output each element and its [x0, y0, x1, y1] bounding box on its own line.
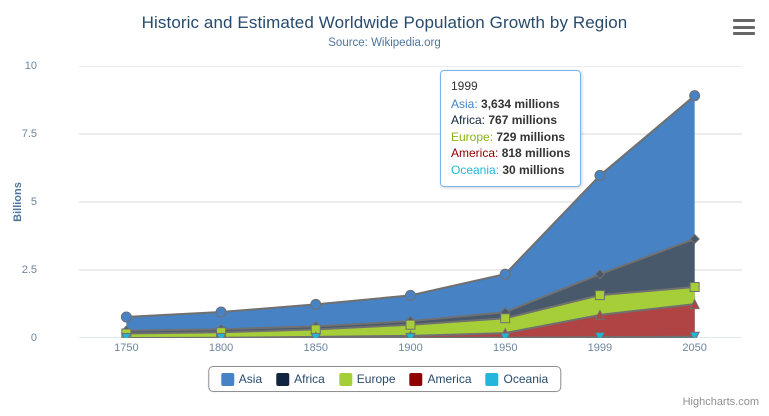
y-axis-tick-label: 7.5 — [22, 128, 37, 140]
data-point-asia-2050[interactable] — [690, 91, 700, 101]
tooltip-row: Oceania: 30 millions — [451, 162, 570, 179]
tooltip-row: Europe: 729 millions — [451, 129, 570, 146]
tooltip-row: America: 818 millions — [451, 145, 570, 162]
legend-swatch-icon — [486, 373, 499, 386]
legend-label: Asia — [239, 372, 262, 386]
data-point-asia-1900[interactable] — [406, 290, 416, 300]
tooltip-series-value: 729 millions — [496, 130, 565, 144]
chart-tooltip: 1999 Asia: 3,634 millionsAfrica: 767 mil… — [440, 70, 581, 187]
legend-item-america[interactable]: America — [410, 372, 472, 386]
data-point-europe-2050[interactable] — [690, 283, 699, 292]
x-axis-tick-label: 1850 — [304, 342, 328, 354]
tooltip-series-value: 767 millions — [488, 113, 557, 127]
tooltip-row: Africa: 767 millions — [451, 112, 570, 129]
chart-title: Historic and Estimated Worldwide Populat… — [0, 13, 769, 33]
menu-bar-3 — [733, 32, 755, 35]
legend-label: Africa — [294, 372, 325, 386]
chart-subtitle: Source: Wikipedia.org — [0, 37, 769, 49]
menu-bar-1 — [733, 19, 755, 22]
credits-label[interactable]: Highcharts.com — [683, 396, 759, 408]
data-point-europe-1999[interactable] — [595, 291, 604, 300]
legend-swatch-icon — [221, 373, 234, 386]
legend-item-oceania[interactable]: Oceania — [486, 372, 549, 386]
plot-area — [79, 66, 742, 338]
legend-label: Europe — [357, 372, 396, 386]
data-point-asia-1750[interactable] — [121, 312, 131, 322]
legend-swatch-icon — [339, 373, 352, 386]
x-axis-tick-label: 1950 — [493, 342, 517, 354]
tooltip-rows: Asia: 3,634 millionsAfrica: 767 millions… — [451, 96, 570, 179]
data-point-europe-1900[interactable] — [406, 320, 415, 329]
x-axis-tick-label: 1999 — [588, 342, 612, 354]
y-axis-tick-label: 5 — [31, 196, 37, 208]
tooltip-series-name: Africa: — [451, 113, 488, 127]
y-axis-title: Billions — [12, 182, 24, 222]
legend-item-africa[interactable]: Africa — [276, 372, 325, 386]
data-point-asia-1950[interactable] — [500, 269, 510, 279]
legend-swatch-icon — [410, 373, 423, 386]
legend-label: America — [428, 372, 472, 386]
tooltip-series-value: 818 millions — [502, 146, 571, 160]
x-axis-tick-label: 1900 — [398, 342, 422, 354]
hamburger-menu-icon[interactable] — [733, 17, 757, 37]
highcharts-chart: Historic and Estimated Worldwide Populat… — [0, 0, 769, 416]
tooltip-header: 1999 — [451, 78, 570, 95]
x-axis-tick-label: 2050 — [682, 342, 706, 354]
legend-swatch-icon — [276, 373, 289, 386]
tooltip-series-value: 3,634 millions — [481, 97, 560, 111]
data-point-asia-1999[interactable] — [595, 170, 605, 180]
data-point-europe-1950[interactable] — [501, 314, 510, 323]
y-axis-tick-label: 2.5 — [22, 264, 37, 276]
y-axis-tick-label: 10 — [25, 60, 37, 72]
tooltip-series-value: 30 millions — [502, 163, 564, 177]
x-axis-tick-label: 1800 — [209, 342, 233, 354]
x-axis-tick-label: 1750 — [114, 342, 138, 354]
menu-bar-2 — [733, 26, 755, 29]
chart-legend: AsiaAfricaEuropeAmericaOceania — [208, 366, 561, 392]
tooltip-row: Asia: 3,634 millions — [451, 96, 570, 113]
tooltip-series-name: Europe: — [451, 130, 496, 144]
data-point-asia-1800[interactable] — [216, 307, 226, 317]
tooltip-series-name: Oceania: — [451, 163, 502, 177]
data-point-asia-1850[interactable] — [311, 299, 321, 309]
legend-item-europe[interactable]: Europe — [339, 372, 396, 386]
chart-svg — [79, 66, 742, 338]
y-axis-tick-label: 0 — [31, 332, 37, 344]
legend-label: Oceania — [504, 372, 549, 386]
legend-item-asia[interactable]: Asia — [221, 372, 262, 386]
tooltip-series-name: America: — [451, 146, 502, 160]
tooltip-series-name: Asia: — [451, 97, 481, 111]
